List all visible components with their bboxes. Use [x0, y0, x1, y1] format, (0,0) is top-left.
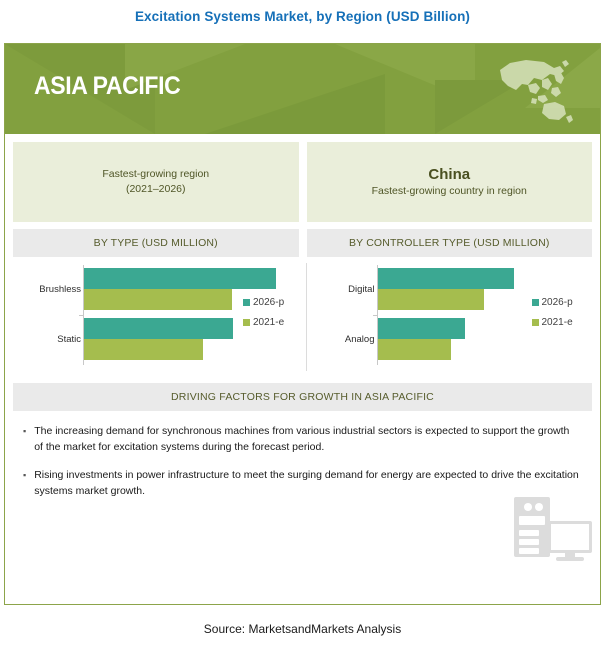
legend-swatch-2026-icon	[243, 299, 250, 306]
legend-item-2026: 2026-p	[243, 297, 284, 308]
fastest-growing-country-label: Fastest-growing country in region	[372, 184, 527, 199]
chart-by-controller-type-category-label: Digital	[307, 283, 381, 297]
chart-by-type-category-label: Brushless	[13, 283, 87, 297]
page-title: Excitation Systems Market, by Region (US…	[0, 0, 605, 24]
chart-by-type-bar-static-2026	[84, 318, 233, 339]
legend-swatch-2021-icon	[243, 319, 250, 326]
computer-server-icon	[512, 495, 594, 563]
legend-label-2021: 2021-e	[253, 317, 284, 328]
legend-item-2021: 2021-e	[243, 317, 284, 328]
charts-row: Brushless Static 2026-p 2021-e	[5, 257, 600, 375]
fastest-growing-region-period: (2021–2026)	[126, 182, 186, 197]
fastest-growing-region-panel: Fastest-growing region (2021–2026)	[13, 142, 299, 222]
chart-by-type-bar-static-2021	[84, 339, 203, 360]
bullet-icon: ▪	[23, 423, 26, 455]
driver-text: The increasing demand for synchronous ma…	[34, 423, 580, 455]
chart-by-type-bar-brushless-2021	[84, 289, 232, 310]
drivers-section-header: DRIVING FACTORS FOR GROWTH IN ASIA PACIF…	[13, 383, 592, 411]
chart-by-type: Brushless Static 2026-p 2021-e	[13, 257, 299, 375]
legend-swatch-2026-icon	[532, 299, 539, 306]
chart-by-type-category-label: Static	[13, 333, 87, 347]
infographic-card: ASIA PACIFIC Fastest-growing region (202…	[4, 43, 601, 605]
right-column: China Fastest-growing country in region …	[307, 142, 593, 257]
chart-by-controller-type-bar-digital-2021	[378, 289, 484, 310]
legend-label-2021: 2021-e	[542, 317, 573, 328]
legend-label-2026: 2026-p	[542, 297, 573, 308]
section-header-by-controller-type: BY CONTROLLER TYPE (USD MILLION)	[307, 229, 593, 257]
source-note: Source: MarketsandMarkets Analysis	[0, 622, 605, 636]
region-name: ASIA PACIFIC	[34, 72, 180, 101]
chart-by-controller-type-bar-digital-2026	[378, 268, 514, 289]
driver-list-item: ▪ The increasing demand for synchronous …	[23, 423, 580, 455]
left-column: Fastest-growing region (2021–2026) BY TY…	[13, 142, 299, 257]
chart-by-type-plot: Brushless Static 2026-p 2021-e	[13, 257, 299, 375]
chart-by-controller-type-legend: 2026-p 2021-e	[532, 297, 573, 337]
fastest-growing-region-label: Fastest-growing region	[102, 167, 209, 182]
bullet-icon: ▪	[23, 467, 26, 499]
legend-label-2026: 2026-p	[253, 297, 284, 308]
chart-by-controller-type-plot: Digital Analog 2026-p 2021-e	[307, 257, 593, 375]
chart-by-type-legend: 2026-p 2021-e	[243, 297, 284, 337]
legend-item-2021: 2021-e	[532, 317, 573, 328]
chart-by-type-bar-brushless-2026	[84, 268, 276, 289]
asia-pacific-map-icon	[492, 54, 578, 126]
chart-by-controller-type-bar-analog-2026	[378, 318, 465, 339]
chart-by-controller-type-category-label: Analog	[307, 333, 381, 347]
section-header-by-type: BY TYPE (USD MILLION)	[13, 229, 299, 257]
legend-swatch-2021-icon	[532, 319, 539, 326]
driver-list-item: ▪ Rising investments in power infrastruc…	[23, 467, 580, 499]
chart-by-type-tick-mid	[79, 315, 83, 316]
chart-by-controller-type-tick-mid	[373, 315, 377, 316]
drivers-body: ▪ The increasing demand for synchronous …	[5, 411, 600, 499]
chart-by-controller-type: Digital Analog 2026-p 2021-e	[307, 257, 593, 375]
fastest-growing-country-panel: China Fastest-growing country in region	[307, 142, 593, 222]
legend-item-2026: 2026-p	[532, 297, 573, 308]
driver-text: Rising investments in power infrastructu…	[34, 467, 580, 499]
fact-panels-row: Fastest-growing region (2021–2026) BY TY…	[5, 134, 600, 257]
region-banner: ASIA PACIFIC	[5, 44, 600, 134]
chart-by-controller-type-bar-analog-2021	[378, 339, 451, 360]
fastest-growing-country-name: China	[428, 165, 470, 184]
